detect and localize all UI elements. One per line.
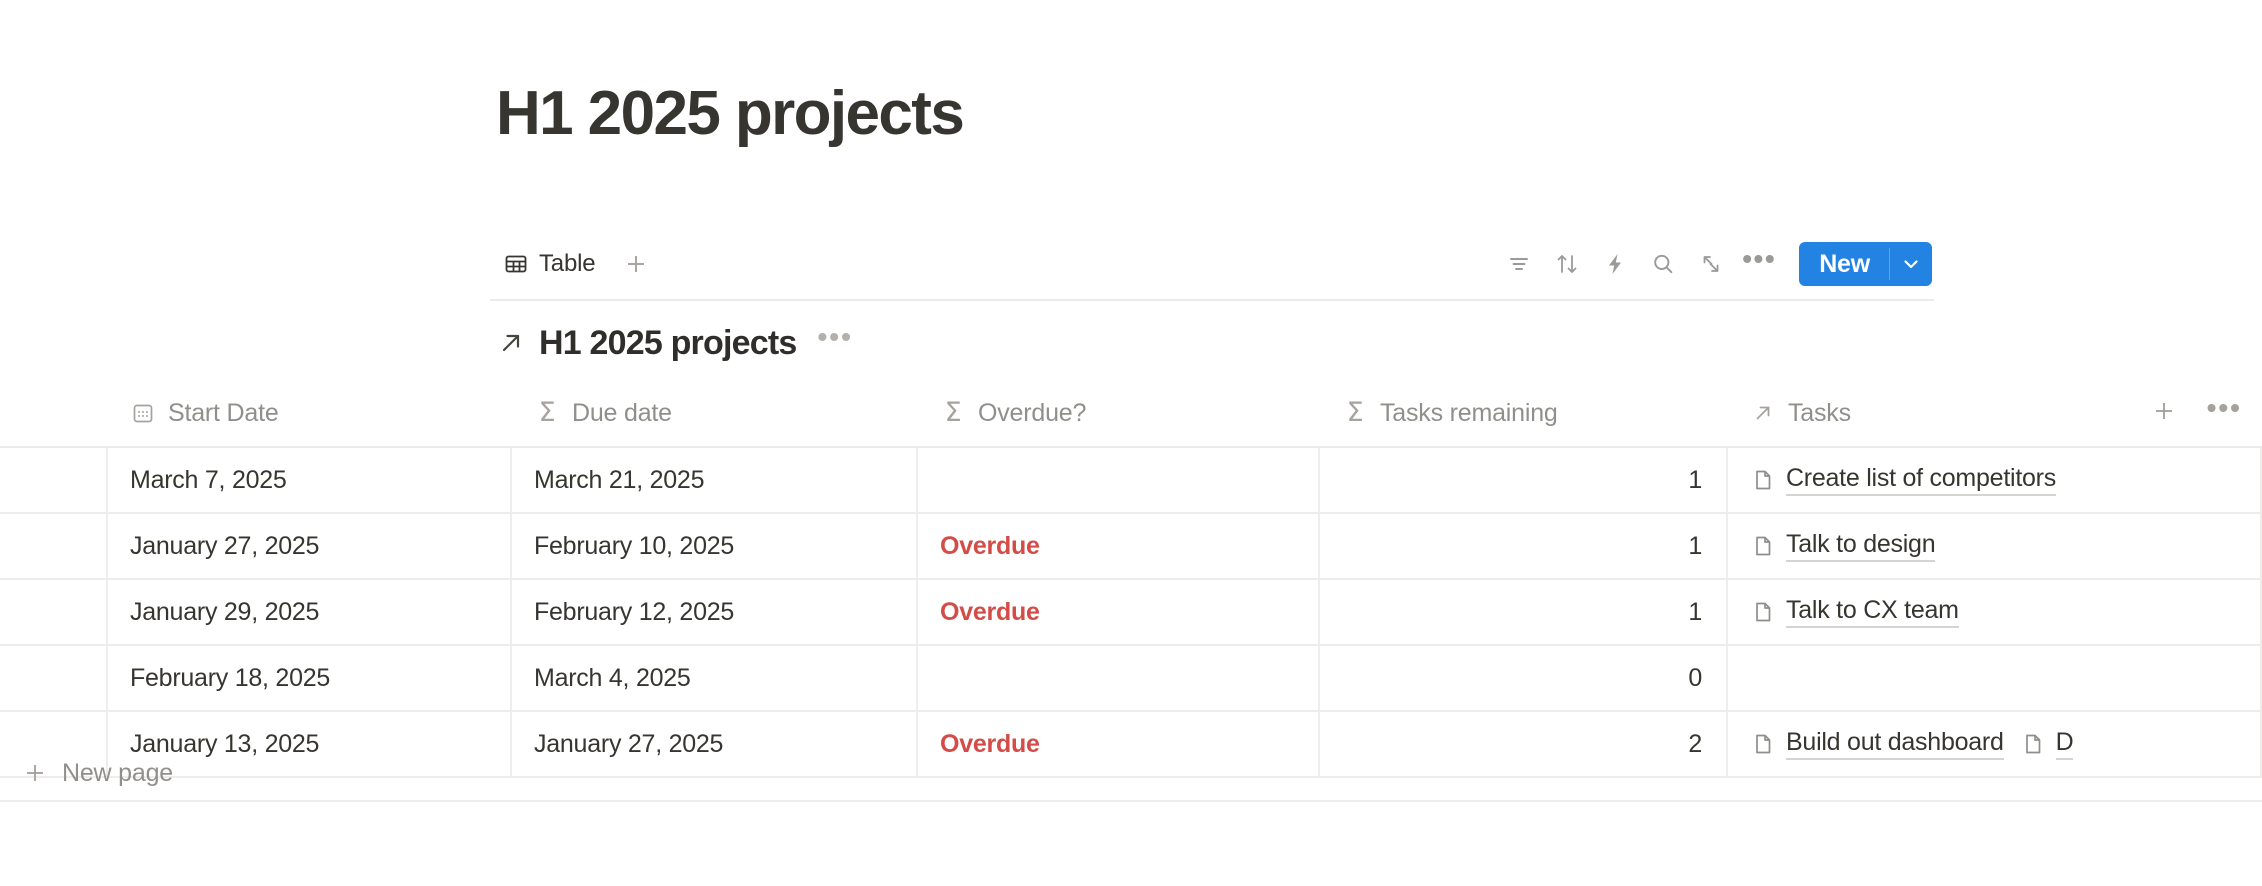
search-icon — [1649, 250, 1677, 278]
cell-tasks[interactable]: Talk to design — [1728, 514, 2262, 578]
view-tools: ••• New — [1497, 238, 1932, 290]
page-icon — [1750, 467, 1776, 493]
tab-table-label: Table — [539, 250, 595, 278]
cell-overdue[interactable] — [918, 448, 1320, 512]
cell-due-date[interactable]: February 10, 2025 — [512, 514, 918, 578]
formula-sigma-icon: Σ — [1342, 400, 1368, 426]
row-gutter — [0, 580, 108, 644]
cell-start-date[interactable]: February 18, 2025 — [108, 646, 512, 710]
cell-due-date[interactable]: March 4, 2025 — [512, 646, 918, 710]
tab-table[interactable]: Table — [496, 245, 603, 283]
cell-tasks[interactable] — [1728, 646, 2262, 710]
new-button-group: New — [1799, 242, 1932, 286]
database-title[interactable]: H1 2025 projects — [539, 324, 796, 363]
new-button-dropdown[interactable] — [1890, 242, 1932, 286]
header-cell-tasks[interactable]: Tasks ••• — [1728, 380, 2262, 446]
cell-start-date[interactable]: January 29, 2025 — [108, 580, 512, 644]
toolbar-divider — [490, 299, 1934, 301]
database-table: Start Date Σ Due date Σ Overdue? Σ Tasks… — [0, 380, 2262, 778]
header-cell-gutter — [0, 380, 108, 446]
automation-bolt-icon — [1601, 250, 1629, 278]
add-property-button[interactable] — [2149, 396, 2179, 431]
new-button-label: New — [1819, 250, 1870, 279]
header-label-overdue: Overdue? — [978, 399, 1086, 428]
cell-due-date[interactable]: March 21, 2025 — [512, 448, 918, 512]
search-button[interactable] — [1641, 242, 1685, 286]
cell-overdue[interactable]: Overdue — [918, 514, 1320, 578]
plus-icon — [2149, 396, 2179, 426]
arrow-up-right-icon — [496, 328, 526, 358]
formula-sigma-icon: Σ — [534, 400, 560, 426]
filter-button[interactable] — [1497, 242, 1541, 286]
table-row[interactable]: February 18, 2025 March 4, 2025 0 — [0, 646, 2262, 712]
header-label-tasks-remaining: Tasks remaining — [1380, 399, 1558, 428]
task-label: Create list of competitors — [1786, 464, 2056, 496]
table-header-row: Start Date Σ Due date Σ Overdue? Σ Tasks… — [0, 380, 2262, 448]
cell-start-date[interactable]: March 7, 2025 — [108, 448, 512, 512]
sort-icon — [1553, 250, 1581, 278]
row-gutter — [0, 646, 108, 710]
page-icon — [1750, 533, 1776, 559]
new-page-label: New page — [62, 759, 173, 788]
cell-overdue[interactable]: Overdue — [918, 580, 1320, 644]
header-cell-due-date[interactable]: Σ Due date — [512, 380, 918, 446]
task-label: Talk to CX team — [1786, 596, 1959, 628]
page-icon — [1750, 599, 1776, 625]
expand-button[interactable] — [1689, 242, 1733, 286]
relation-arrow-icon — [1750, 400, 1776, 426]
automation-button[interactable] — [1593, 242, 1637, 286]
plus-icon — [20, 758, 50, 788]
cell-tasks-remaining[interactable]: 1 — [1320, 514, 1728, 578]
task-link[interactable]: Talk to design — [1750, 530, 1935, 562]
sort-button[interactable] — [1545, 242, 1589, 286]
database-options-icon[interactable]: ••• — [817, 333, 852, 353]
row-gutter — [0, 448, 108, 512]
more-options-button[interactable]: ••• — [1737, 242, 1781, 286]
task-label: Talk to design — [1786, 530, 1935, 562]
new-button[interactable]: New — [1799, 242, 1889, 286]
view-toolbar: Table — [496, 238, 1932, 290]
calendar-icon — [130, 400, 156, 426]
table-row[interactable]: March 7, 2025 March 21, 2025 1 Create li… — [0, 448, 2262, 514]
cell-start-date[interactable]: January 27, 2025 — [108, 514, 512, 578]
page-title: H1 2025 projects — [496, 78, 963, 150]
filter-icon — [1505, 250, 1533, 278]
more-options-icon: ••• — [1742, 254, 1776, 274]
cell-tasks[interactable]: Create list of competitors — [1728, 448, 2262, 512]
header-label-start-date: Start Date — [168, 399, 279, 428]
database-title-row: H1 2025 projects ••• — [496, 320, 853, 366]
header-cell-overdue[interactable]: Σ Overdue? — [918, 380, 1320, 446]
plus-icon — [622, 250, 650, 278]
row-gutter — [0, 514, 108, 578]
cell-tasks[interactable]: Talk to CX team — [1728, 580, 2262, 644]
header-cell-tasks-remaining[interactable]: Σ Tasks remaining — [1320, 380, 1728, 446]
table-icon — [504, 252, 528, 276]
task-link[interactable]: Create list of competitors — [1750, 464, 2056, 496]
table-row[interactable]: January 29, 2025 February 12, 2025 Overd… — [0, 580, 2262, 646]
cell-tasks-remaining[interactable]: 0 — [1320, 646, 1728, 710]
cell-tasks-remaining[interactable]: 1 — [1320, 448, 1728, 512]
expand-icon — [1697, 250, 1725, 278]
formula-sigma-icon: Σ — [940, 400, 966, 426]
table-more-options-button[interactable]: ••• — [2207, 404, 2242, 422]
cell-due-date[interactable]: February 12, 2025 — [512, 580, 918, 644]
header-label-due-date: Due date — [572, 399, 672, 428]
add-view-button[interactable] — [617, 245, 655, 283]
table-row[interactable]: January 27, 2025 February 10, 2025 Overd… — [0, 514, 2262, 580]
task-link[interactable]: Talk to CX team — [1750, 596, 1959, 628]
new-page-row[interactable]: New page — [0, 746, 2262, 802]
cell-overdue[interactable] — [918, 646, 1320, 710]
cell-tasks-remaining[interactable]: 1 — [1320, 580, 1728, 644]
header-label-tasks: Tasks — [1788, 399, 1851, 428]
view-tabs: Table — [496, 238, 655, 290]
chevron-down-icon — [1899, 252, 1923, 276]
header-cell-start-date[interactable]: Start Date — [108, 380, 512, 446]
